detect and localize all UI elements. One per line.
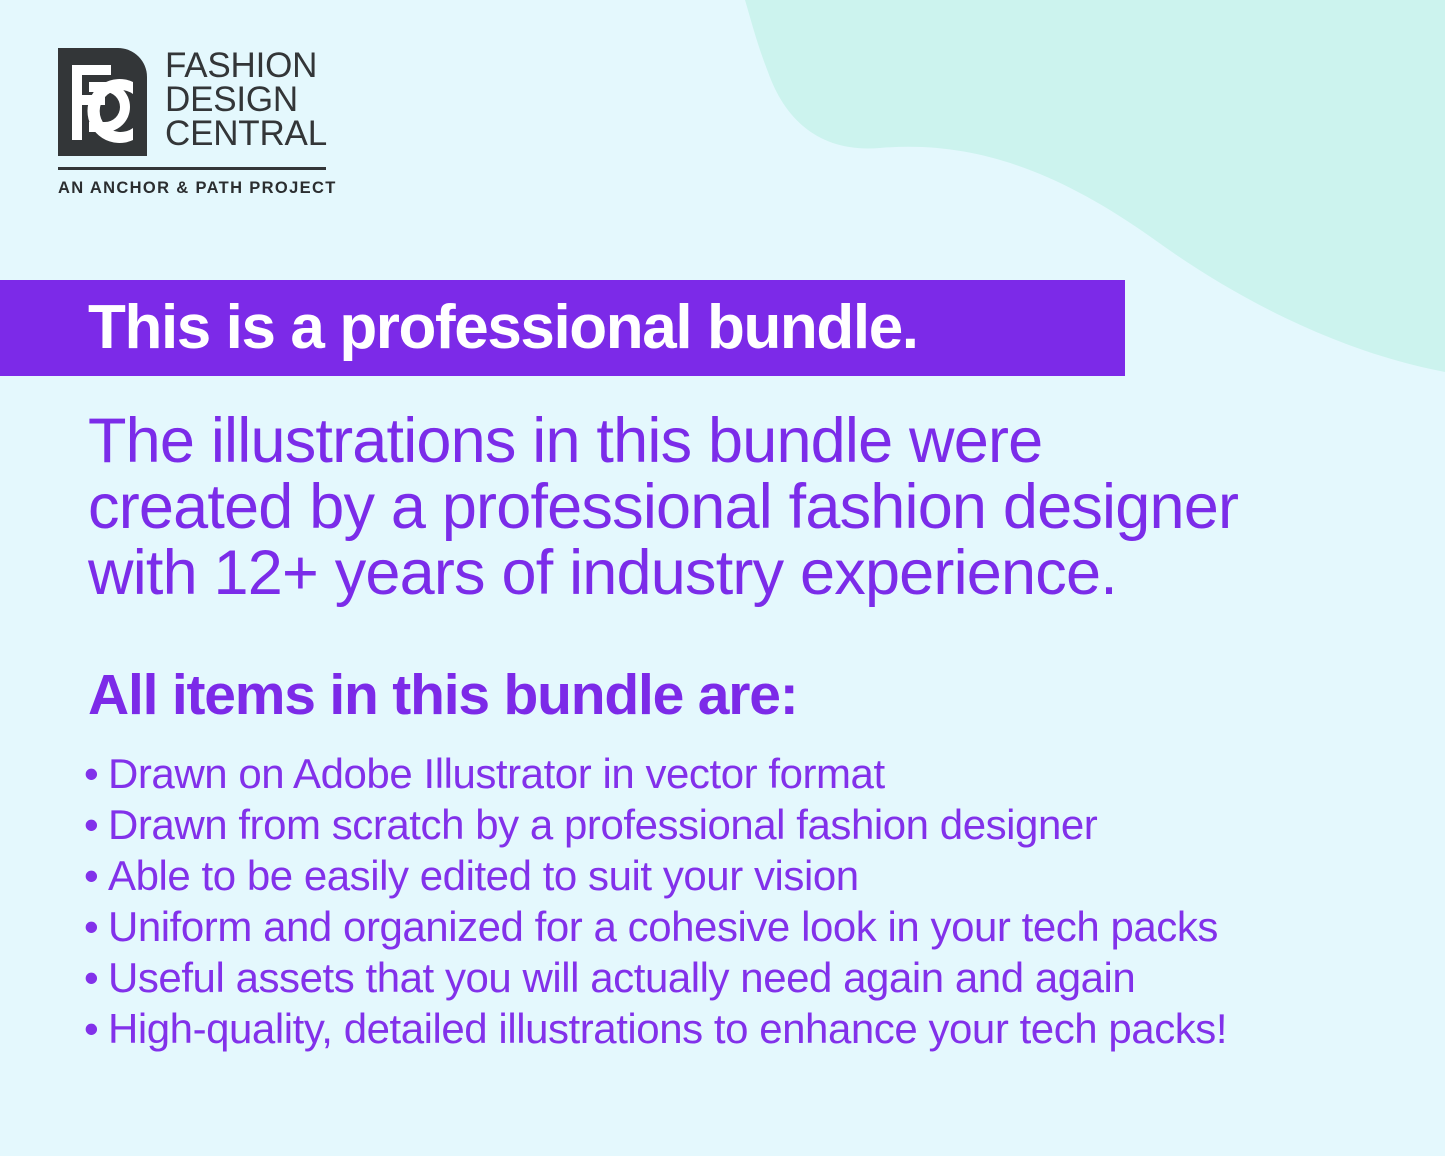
logo-top-row: FASHION DESIGN CENTRAL	[58, 48, 326, 156]
fdc-monogram-icon	[58, 48, 147, 156]
logo-tagline: AN ANCHOR & PATH PROJECT	[58, 179, 326, 198]
bullet-dot-icon: •	[84, 748, 108, 799]
bullet-dot-icon: •	[84, 952, 108, 1003]
list-item: • Useful assets that you will actually n…	[84, 952, 1414, 1003]
list-item: • Able to be easily edited to suit your …	[84, 850, 1414, 901]
list-item: • High-quality, detailed illustrations t…	[84, 1003, 1414, 1054]
list-item-label: Able to be easily edited to suit your vi…	[108, 850, 859, 901]
list-item-label: High-quality, detailed illustrations to …	[108, 1003, 1227, 1054]
bullet-dot-icon: •	[84, 1003, 108, 1054]
logo-wordmark-line-2: DESIGN	[165, 83, 327, 117]
feature-bullet-list: • Drawn on Adobe Illustrator in vector f…	[84, 748, 1414, 1054]
intro-line-1: The illustrations in this bundle were	[88, 408, 1388, 474]
intro-paragraph: The illustrations in this bundle were cr…	[88, 408, 1388, 606]
bullet-dot-icon: •	[84, 799, 108, 850]
list-item-label: Drawn from scratch by a professional fas…	[108, 799, 1097, 850]
promo-slide: FASHION DESIGN CENTRAL AN ANCHOR & PATH …	[0, 0, 1445, 1156]
logo-wordmark-line-3: CENTRAL	[165, 117, 327, 151]
list-item-label: Useful assets that you will actually nee…	[108, 952, 1135, 1003]
logo-wordmark: FASHION DESIGN CENTRAL	[165, 48, 327, 151]
list-item: • Drawn on Adobe Illustrator in vector f…	[84, 748, 1414, 799]
logo-divider	[58, 167, 326, 170]
bullet-dot-icon: •	[84, 850, 108, 901]
list-item: • Uniform and organized for a cohesive l…	[84, 901, 1414, 952]
intro-line-3: with 12+ years of industry experience.	[88, 540, 1388, 606]
list-item-label: Drawn on Adobe Illustrator in vector for…	[108, 748, 885, 799]
section-subheading: All items in this bundle are:	[88, 662, 797, 728]
brand-logo: FASHION DESIGN CENTRAL AN ANCHOR & PATH …	[58, 48, 326, 198]
list-item: • Drawn from scratch by a professional f…	[84, 799, 1414, 850]
bullet-dot-icon: •	[84, 901, 108, 952]
headline-banner: This is a professional bundle.	[0, 280, 1125, 376]
logo-wordmark-line-1: FASHION	[165, 49, 327, 83]
headline-text: This is a professional bundle.	[88, 292, 918, 363]
intro-line-2: created by a professional fashion design…	[88, 474, 1388, 540]
list-item-label: Uniform and organized for a cohesive loo…	[108, 901, 1218, 952]
